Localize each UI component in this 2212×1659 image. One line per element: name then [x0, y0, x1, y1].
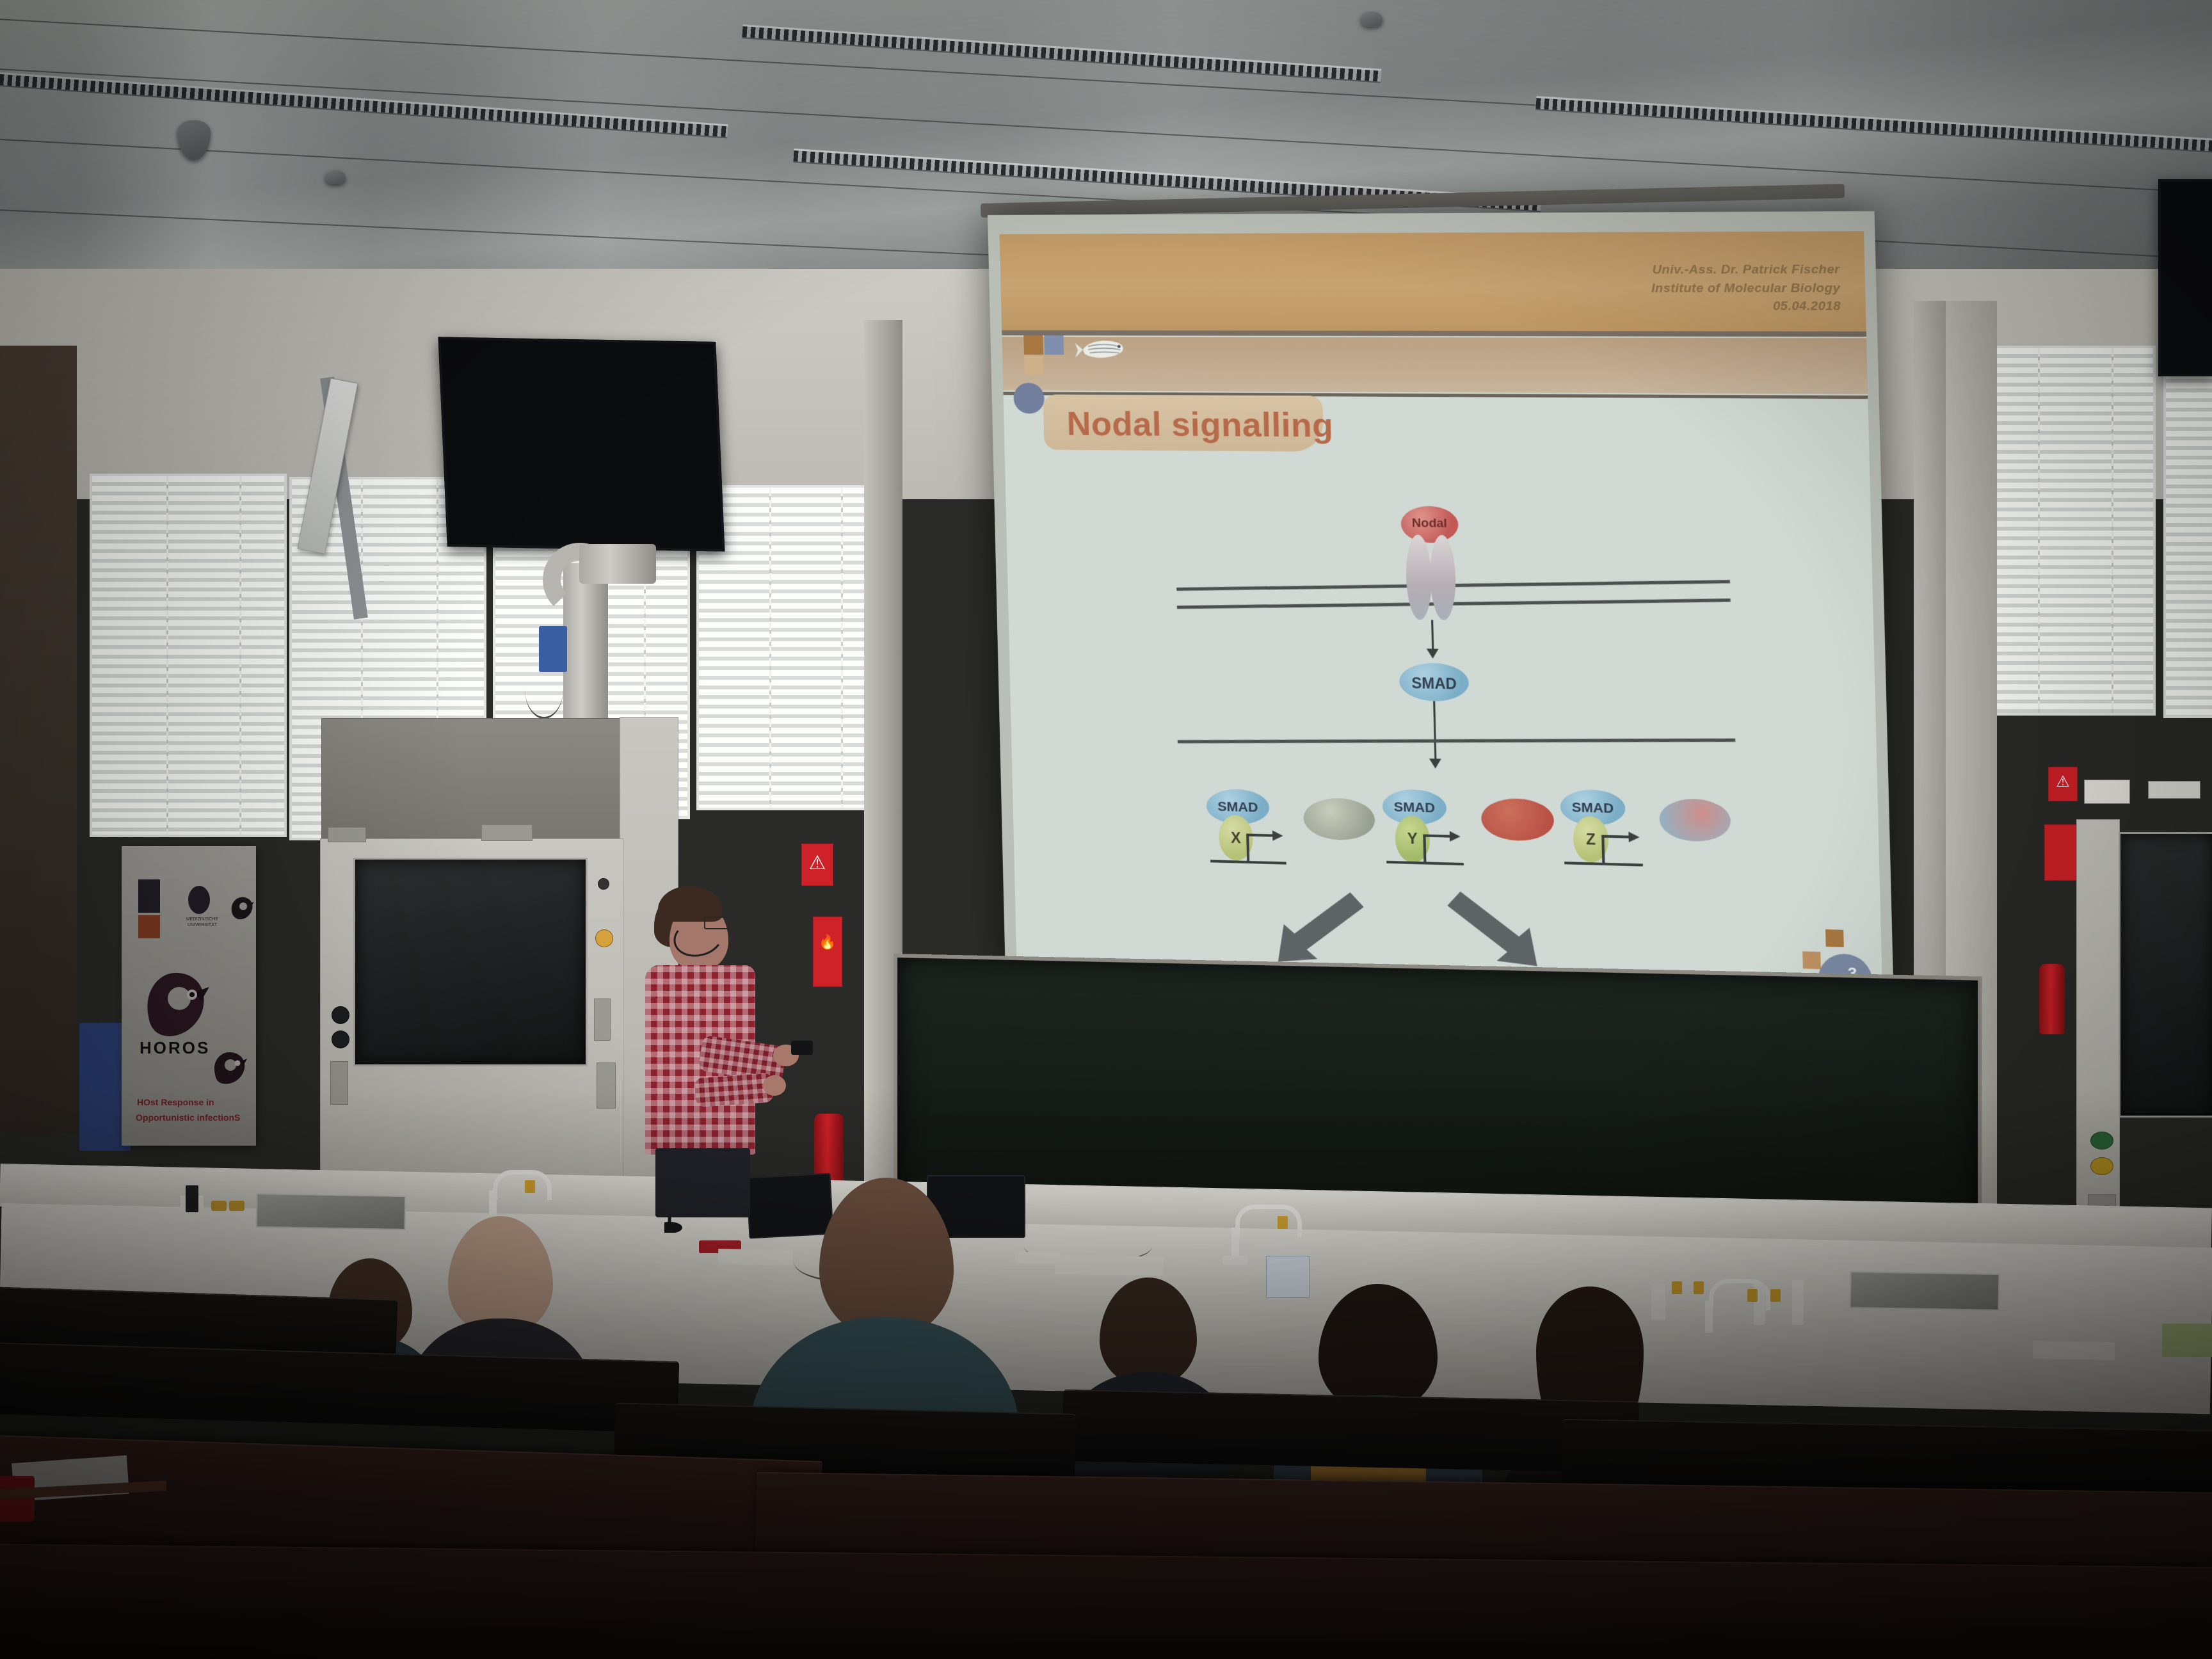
falcon-horus-icon [229, 895, 255, 922]
bench-keyboard-tray [1055, 1255, 1164, 1276]
branch-arrow-mesoderm [1446, 887, 1542, 969]
lab-water-tap-left[interactable] [493, 1170, 552, 1200]
slide-footer-deco-square [1802, 951, 1821, 969]
right-hood-label-panel-2 [2148, 781, 2200, 799]
bench-valve-handle[interactable] [1672, 1281, 1682, 1294]
falcon-horus-icon-large [142, 968, 210, 1043]
poster-tagline-line1: HOst Response in [137, 1097, 214, 1107]
fume-hood-duct-horizontal [579, 544, 656, 584]
projection-screen: Univ.-Ass. Dr. Patrick Fischer Institute… [988, 211, 1894, 1004]
lab-water-tap-center[interactable] [1235, 1205, 1302, 1237]
window-right-2 [2163, 342, 2212, 718]
fume-hood-control-panel[interactable] [594, 998, 611, 1041]
dark-wall-band-left [0, 346, 77, 1133]
promoter-arrow-x [1206, 815, 1299, 867]
window-left-1 [90, 474, 287, 837]
seat-row [1062, 1390, 1639, 1473]
bench-sink-left [256, 1193, 406, 1230]
ceiling-tv-monitor[interactable] [438, 337, 725, 551]
lab-tap-handle[interactable] [1278, 1216, 1288, 1229]
venetian-blinds [2166, 344, 2212, 716]
lab-tap-stem [1705, 1301, 1713, 1333]
ceiling-sprinkler-icon [1361, 12, 1382, 27]
emergency-stop-button[interactable] [595, 929, 613, 947]
branch-arrow-endoderm [1272, 886, 1366, 967]
slide-subheader-band [1002, 337, 1868, 394]
green-power-button[interactable] [2090, 1132, 2113, 1150]
fume-hood-control-panel-right[interactable] [597, 1062, 616, 1109]
horos-project-poster: MEDIZINISCHE UNIVERSITÄT HOROS HOst Res [122, 846, 256, 1146]
nodal-label: Nodal [1401, 517, 1459, 531]
slide-deco-square [1023, 335, 1043, 355]
slide-deco-square [1044, 335, 1064, 355]
hood-valve-knob[interactable] [332, 1006, 349, 1024]
presentation-remote[interactable] [791, 1041, 813, 1055]
fume-hood-light-strip [328, 827, 366, 842]
poster-project-name: HOROS [140, 1038, 210, 1058]
fire-extinguisher-right[interactable] [2039, 964, 2065, 1034]
zebrafish-icon [1073, 335, 1126, 362]
secondary-display-monitor[interactable] [2158, 179, 2212, 376]
smad-x-smad-label: SMAD [1206, 799, 1270, 816]
venetian-blinds [92, 476, 284, 835]
bench-marker [211, 1201, 227, 1211]
slide-deco-square [1024, 356, 1044, 375]
duct-cable [525, 659, 563, 719]
tissue-box [1266, 1256, 1310, 1298]
bench-paper-center [1015, 1252, 1060, 1263]
falcon-horus-icon-small [211, 1050, 247, 1087]
lab-tap-handle[interactable] [1747, 1289, 1758, 1302]
signal-arrow-head-2 [1429, 758, 1441, 769]
slide-header-meta: Univ.-Ass. Dr. Patrick Fischer Institute… [1651, 260, 1841, 316]
hood-indicator-button[interactable] [598, 878, 609, 890]
presenter-hand-lower [763, 1075, 786, 1096]
fume-hood-light-strip [481, 824, 533, 841]
fume-hood-sash-window[interactable] [353, 858, 588, 1066]
fire-sign-glyph-icon: ⚠ [2049, 773, 2077, 791]
bench-paper-right [2033, 1341, 2115, 1360]
poster-logo-accent [138, 915, 160, 938]
bench-bottle [186, 1185, 198, 1212]
promoter-arrow-z [1560, 817, 1656, 869]
lab-tap-handle[interactable] [1770, 1289, 1781, 1302]
presenter-legs [655, 1148, 750, 1217]
slide-title: Nodal signalling [1066, 405, 1334, 445]
green-pad [2162, 1324, 2212, 1357]
smad-y-smad-label: SMAD [1382, 799, 1447, 817]
poster-logo-block [138, 879, 160, 913]
ceiling-sprinkler-icon [325, 170, 346, 184]
promoter-arrow-y [1382, 816, 1477, 869]
fire-sign-glyph-icon: ⚠ [802, 852, 833, 874]
hood-valve-knob[interactable] [332, 1030, 349, 1048]
smad-cytoplasmic-label: SMAD [1399, 675, 1469, 694]
bench-paper-left [718, 1249, 792, 1265]
slide-date: 05.04.2018 [1651, 298, 1841, 316]
slide-presenter-name: Univ.-Ass. Dr. Patrick Fischer [1651, 260, 1840, 279]
bench-item-pair [1651, 1284, 1665, 1320]
slide-institute: Institute of Molecular Biology [1651, 279, 1841, 298]
fire-alarm-sign: ⚠ [801, 844, 833, 886]
poster-tagline-line2: Opportunistic infectionS [136, 1112, 240, 1123]
fume-hood-upper-housing [321, 718, 623, 841]
lab-tap-column [1792, 1280, 1804, 1325]
presenter [634, 883, 845, 1216]
slide-deco-circle [1013, 383, 1045, 413]
fire-blanket-sign-right: ⚠ [2048, 767, 2078, 801]
slide-header-rule [1002, 330, 1866, 337]
right-fume-hood-sash[interactable] [2119, 832, 2212, 1118]
poster-seal-icon [188, 886, 210, 914]
lab-tap-base [1222, 1256, 1248, 1265]
yellow-alarm-button[interactable] [2090, 1157, 2113, 1175]
bench-valve-handle[interactable] [1694, 1281, 1704, 1294]
presentation-slide: Univ.-Ass. Dr. Patrick Fischer Institute… [1000, 231, 1882, 988]
bench-marker [229, 1201, 244, 1211]
venetian-blinds [699, 488, 878, 808]
signal-arrow-head-1 [1427, 648, 1439, 659]
right-hood-label-panel [2084, 780, 2130, 804]
lab-tap-handle[interactable] [525, 1180, 535, 1193]
poster-university-name: MEDIZINISCHE UNIVERSITÄT [177, 917, 228, 928]
bench-sink-right [1850, 1271, 2000, 1311]
smad-z-smad-label: SMAD [1560, 799, 1626, 817]
slide-footer-deco-square [1825, 929, 1844, 947]
lecture-hall-scene: MEDIZINISCHE UNIVERSITÄT HOROS HOst Res [0, 0, 2212, 1659]
presenter-forearm [694, 1073, 774, 1107]
fume-hood-control-panel-left[interactable] [330, 1061, 348, 1105]
fire-blanket-pouch[interactable] [2044, 824, 2079, 881]
